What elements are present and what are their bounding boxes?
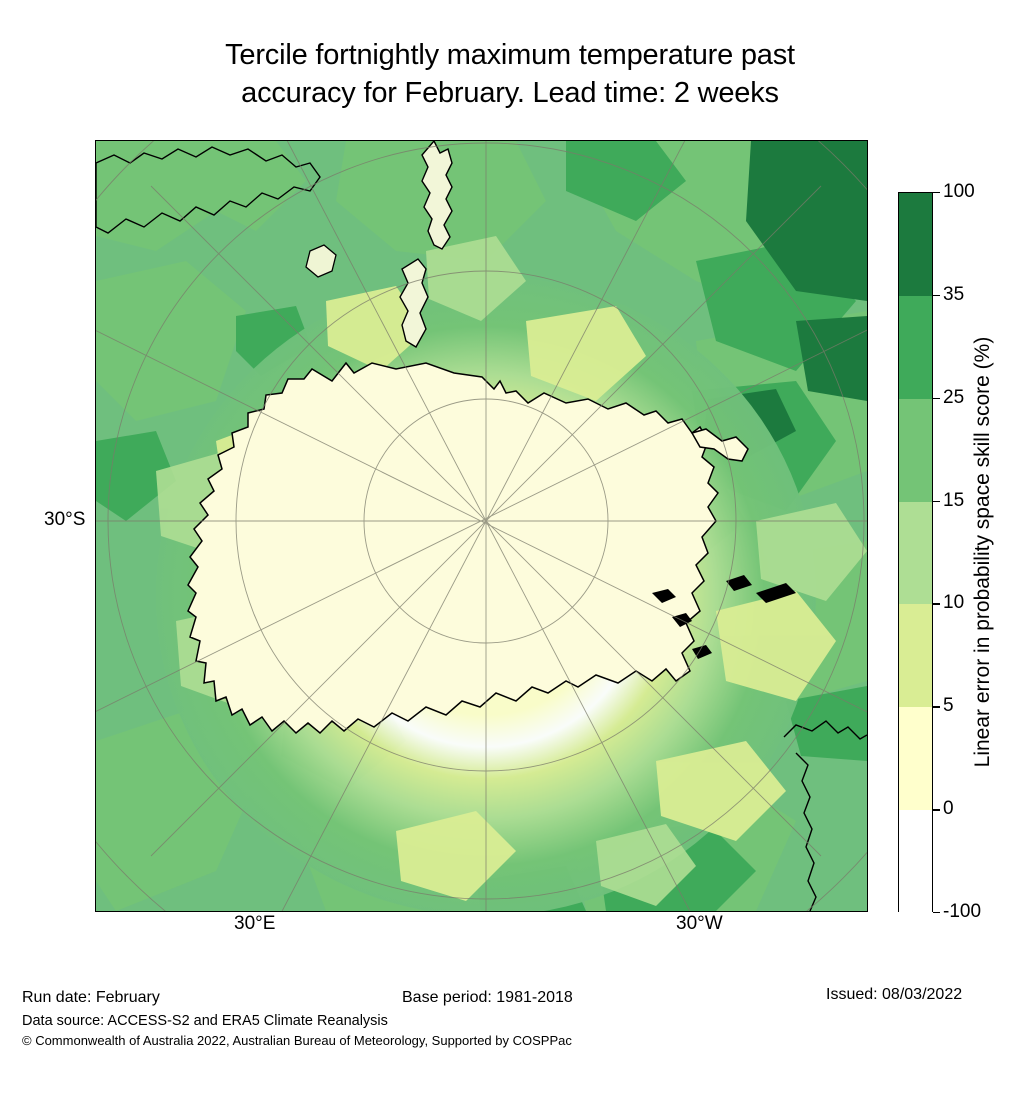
colorbar-tick-15 [933,501,940,502]
map-data-layer [96,141,867,911]
title-line-2: accuracy for February. Lead time: 2 week… [0,74,1020,112]
colorbar-tick-100 [933,192,940,193]
colorbar-band-4 [899,604,932,707]
colorbar-tick-label-15: 15 [943,490,964,512]
colorbar-band-5 [899,707,932,810]
colorbar-tick-5 [933,706,940,707]
colorbar-band-6 [899,810,932,913]
title-line-1: Tercile fortnightly maximum temperature … [0,36,1020,74]
colorbar-band-0 [899,193,932,296]
colorbar-tick-label-35: 35 [943,284,964,306]
colorbar-tick-label-0: 0 [943,798,954,820]
colorbar-tick-0 [933,809,940,810]
footer-issued-date: Issued: 08/03/2022 [826,986,962,1004]
page-title: Tercile fortnightly maximum temperature … [0,36,1020,112]
colorbar-tick-35 [933,295,940,296]
colorbar-band-2 [899,399,932,502]
colorbar-tick-label-25: 25 [943,387,964,409]
map-plot-area [95,140,868,912]
footer-copyright: © Commonwealth of Australia 2022, Austra… [22,1033,572,1048]
colorbar-tick-25 [933,398,940,399]
footer-run-date: Run date: February [22,989,160,1007]
colorbar-tick-label-10: 10 [943,592,964,614]
colorbar: 1003525151050-100 [898,192,933,912]
colorbar-tick-label-5: 5 [943,695,954,717]
axis-label-30s: 30°S [44,509,85,531]
colorbar-tick--100 [933,912,940,913]
colorbar-band-1 [899,296,932,399]
colorbar-tick-10 [933,603,940,604]
axis-label-30w: 30°W [676,913,723,935]
colorbar-axis-label: Linear error in probability space skill … [966,192,1000,912]
footer-data-source: Data source: ACCESS-S2 and ERA5 Climate … [22,1013,388,1029]
polar-skill-map [96,141,867,911]
colorbar-band-3 [899,502,932,605]
axis-label-30e: 30°E [234,913,275,935]
footer-base-period: Base period: 1981-2018 [402,989,573,1007]
colorbar-gradient [898,192,933,912]
